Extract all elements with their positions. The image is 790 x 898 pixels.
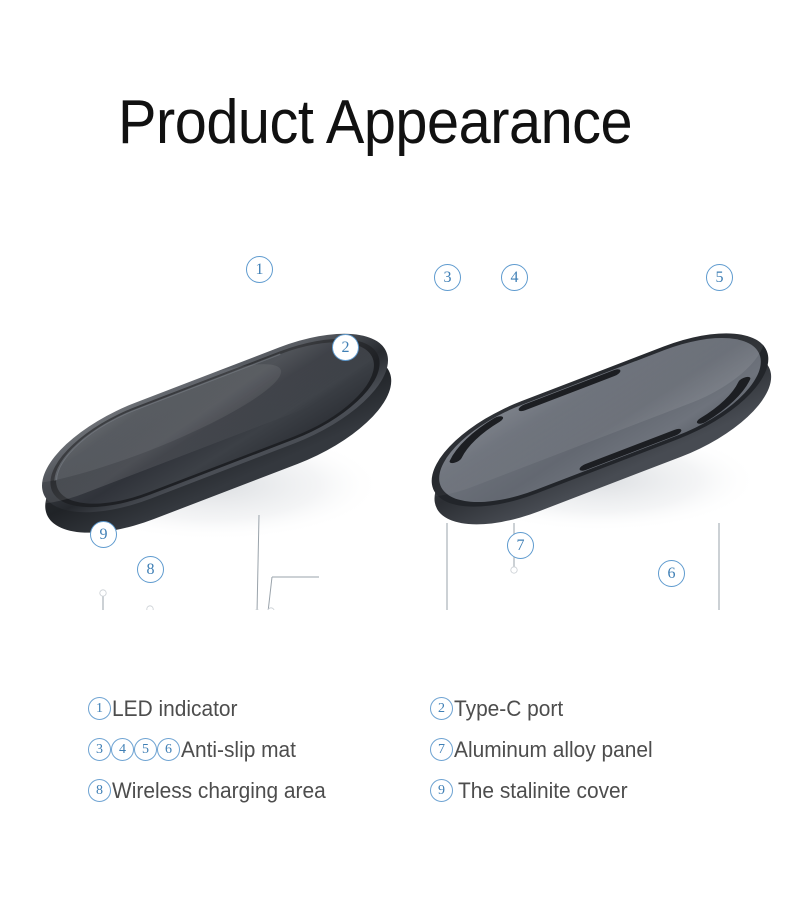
callout-badge-3[interactable]: 3 <box>434 264 461 291</box>
callout-badge-9[interactable]: 9 <box>90 521 117 548</box>
callout-badge-7[interactable]: 7 <box>507 532 534 559</box>
callout-badge-2[interactable]: 2 <box>332 334 359 361</box>
legend-item-anti-slip-mat[interactable]: 3 4 5 6 Anti-slip mat <box>88 729 337 770</box>
legend-badges: 8 <box>88 779 111 802</box>
legend-label-stalinite-cover: The stalinite cover <box>458 778 628 804</box>
anchor-9 <box>100 590 106 596</box>
legend-badge-5: 5 <box>134 738 157 761</box>
legend-badge-7: 7 <box>430 738 453 761</box>
callout-badge-1[interactable]: 1 <box>246 256 273 283</box>
anchor-8-a <box>147 606 153 610</box>
callout-badge-4[interactable]: 4 <box>501 264 528 291</box>
legend-badge-3: 3 <box>88 738 111 761</box>
legend-label-led-indicator: LED indicator <box>112 696 237 722</box>
legend-badge-9: 9 <box>430 779 453 802</box>
legend-item-stalinite-cover[interactable]: 9 The stalinite cover <box>430 770 663 811</box>
anchor-dots-front <box>100 590 290 610</box>
legend-badges: 7 <box>430 738 453 761</box>
legend-badge-8: 8 <box>88 779 111 802</box>
legend-column-left: 1 LED indicator 3 4 5 6 Anti-slip mat 8 … <box>88 688 337 811</box>
legend-column-right: 2 Type-C port 7 Aluminum alloy panel 9 T… <box>430 688 663 811</box>
legend-badges: 9 <box>430 779 453 802</box>
legend-item-wireless-charging-area[interactable]: 8 Wireless charging area <box>88 770 337 811</box>
legend-label-type-c-port: Type-C port <box>454 696 563 722</box>
legend-label-aluminum-alloy-panel: Aluminum alloy panel <box>454 737 653 763</box>
legend-item-type-c-port[interactable]: 2 Type-C port <box>430 688 663 729</box>
legend-item-led-indicator[interactable]: 1 LED indicator <box>88 688 337 729</box>
leader-2-d <box>268 577 272 610</box>
legend-badges: 2 <box>430 697 453 720</box>
product-illustration-svg <box>0 230 790 610</box>
legend-badges: 3 4 5 6 <box>88 738 180 761</box>
product-figures: 1 2 9 8 3 4 5 7 6 <box>0 230 790 610</box>
legend-badge-1: 1 <box>88 697 111 720</box>
legend-label-anti-slip-mat: Anti-slip mat <box>181 737 296 763</box>
callout-badge-8[interactable]: 8 <box>137 556 164 583</box>
figure-back-bottom-view <box>381 296 778 610</box>
legend-item-aluminum-alloy-panel[interactable]: 7 Aluminum alloy panel <box>430 729 663 770</box>
legend-badge-4: 4 <box>111 738 134 761</box>
anchor-4 <box>511 567 517 573</box>
legend-badge-6: 6 <box>157 738 180 761</box>
legend: 1 LED indicator 3 4 5 6 Anti-slip mat 8 … <box>0 688 790 818</box>
callout-badge-5[interactable]: 5 <box>706 264 733 291</box>
callout-badge-6[interactable]: 6 <box>658 560 685 587</box>
legend-label-wireless-charging-area: Wireless charging area <box>112 778 326 804</box>
page-title: Product Appearance <box>118 92 632 154</box>
legend-badge-2: 2 <box>430 697 453 720</box>
legend-badges: 1 <box>88 697 111 720</box>
